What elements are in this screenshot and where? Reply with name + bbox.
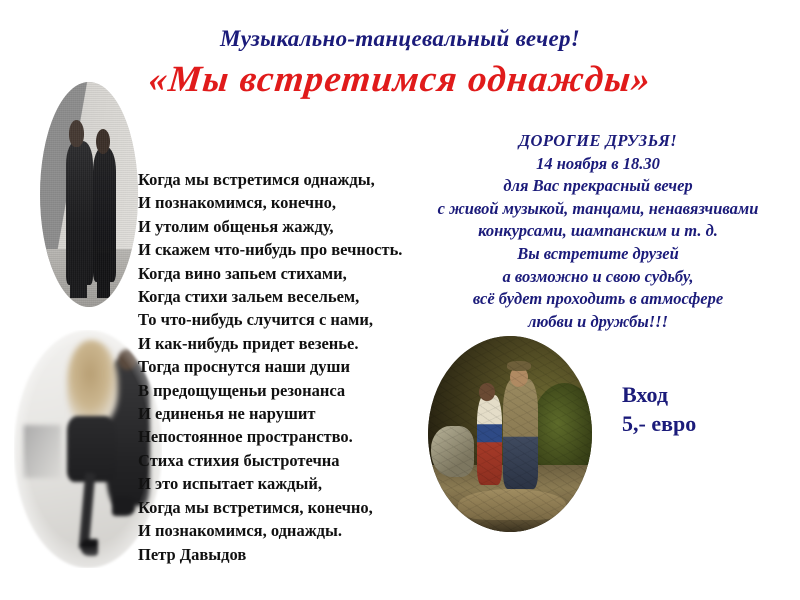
invitation-line: 14 ноября в 18.30 xyxy=(398,153,798,176)
poem-line: И познакомимся, однажды. xyxy=(138,519,438,542)
poem-line: Когда стихи зальем весельем, xyxy=(138,285,438,308)
painting-craquelure xyxy=(428,336,592,532)
invitation-text: ДОРОГИЕ ДРУЗЬЯ! 14 ноября в 18.30 для Ва… xyxy=(398,130,798,333)
invitation-line: любви и дружбы!!! xyxy=(398,311,798,334)
couple-photo xyxy=(40,82,138,307)
invitation-line: Вы встретите друзей xyxy=(398,243,798,266)
poem-line: И это испытает каждый, xyxy=(138,472,438,495)
poem-line: И как-нибудь придет везенье. xyxy=(138,332,438,355)
poem-author: Петр Давыдов xyxy=(138,543,438,566)
invitation-line: а возможно и свою судьбу, xyxy=(398,266,798,289)
poem-line: И познакомимся, конечно, xyxy=(138,191,438,214)
poem-line: Тогда проснутся наши души xyxy=(138,355,438,378)
poem-line: Когда мы встретимся однажды, xyxy=(138,168,438,191)
poem-line: Когда вино запьем стихами, xyxy=(138,262,438,285)
poem-line: Когда мы встретимся, конечно, xyxy=(138,496,438,519)
invitation-line: с живой музыкой, танцами, ненавязчивами xyxy=(398,198,798,221)
price-value: 5,- евро xyxy=(622,409,696,438)
price-label: Вход xyxy=(622,380,696,409)
poster-canvas: Музыкально-танцевальный вечер! «Мы встре… xyxy=(0,0,800,600)
poem-text: Когда мы встретимся однажды, И познакоми… xyxy=(138,168,438,566)
poem-line: Непостоянное пространство. xyxy=(138,425,438,448)
couple-photo-grain xyxy=(40,82,138,307)
poem-line: И скажем что-нибудь про вечность. xyxy=(138,238,438,261)
poem-line: И единенья не нарушит xyxy=(138,402,438,425)
price-block: Вход 5,- евро xyxy=(622,380,696,438)
painting-image xyxy=(428,336,592,532)
poem-line: И утолим общенья жажду, xyxy=(138,215,438,238)
poem-line: Стиха стихия быстротечна xyxy=(138,449,438,472)
invitation-line: всё будет проходить в атмосфере xyxy=(398,288,798,311)
poem-line: В предощущеньи резонанса xyxy=(138,379,438,402)
invitation-line: для Вас прекрасный вечер xyxy=(398,175,798,198)
invitation-line: ДОРОГИЕ ДРУЗЬЯ! xyxy=(398,130,798,153)
invitation-line: конкурсами, шампанским и т. д. xyxy=(398,220,798,243)
page-title: Музыкально-танцевальный вечер! xyxy=(0,26,800,52)
poem-line: То что-нибудь случится с нами, xyxy=(138,308,438,331)
